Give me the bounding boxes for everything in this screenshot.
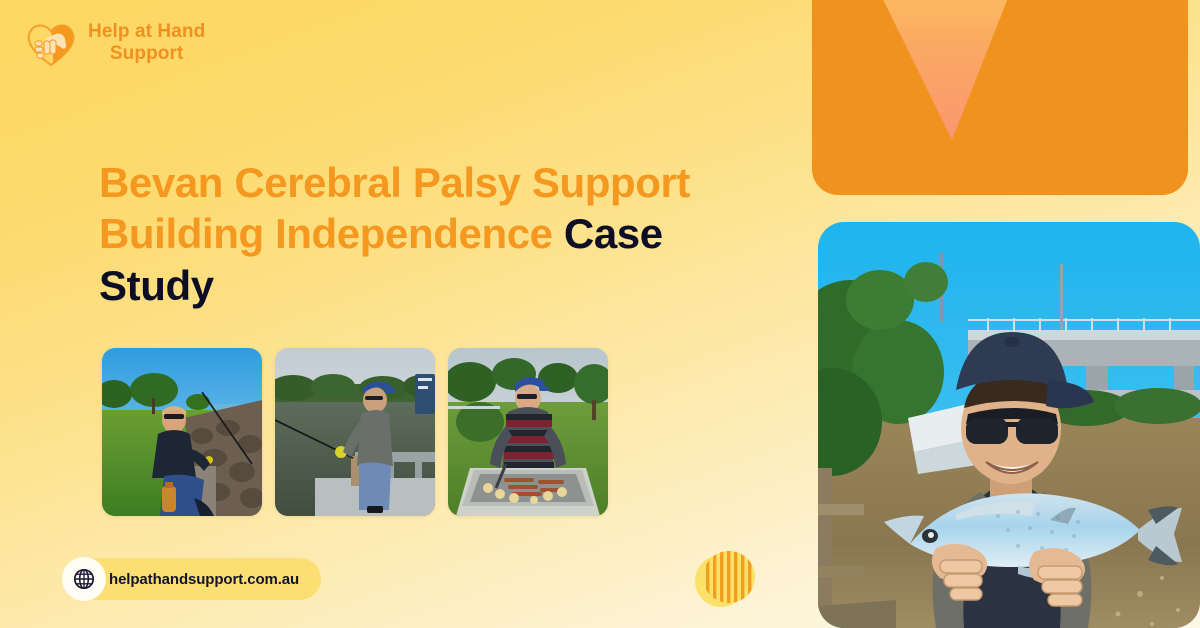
- orange-chevron-card: [812, 0, 1188, 195]
- thumbnail-fishing-rocky-shore[interactable]: [102, 348, 262, 516]
- brand-name-line2: Support: [110, 43, 184, 64]
- globe-icon: [62, 557, 106, 601]
- website-url-text: helpathandsupport.com.au: [109, 571, 299, 588]
- hero-photo-bevan-with-fish[interactable]: [818, 222, 1200, 628]
- thumbnail-gallery: [102, 348, 608, 516]
- page-title: Bevan Cerebral Palsy Support Building In…: [99, 157, 709, 311]
- brand-logo[interactable]: Help at Hand Support: [22, 14, 205, 72]
- website-url-badge[interactable]: helpathandsupport.com.au: [63, 558, 321, 600]
- brand-name-line1: Help at Hand: [88, 21, 205, 42]
- striped-circle-decoration: [693, 547, 757, 611]
- brand-name: Help at Hand Support: [88, 21, 205, 66]
- thumbnail-fishing-pontoon[interactable]: [275, 348, 435, 516]
- heart-handshake-icon: [22, 14, 80, 72]
- thumbnail-park-bbq[interactable]: [448, 348, 608, 516]
- case-study-banner: Help at Hand Support Bevan Cerebral Pals…: [0, 0, 1200, 628]
